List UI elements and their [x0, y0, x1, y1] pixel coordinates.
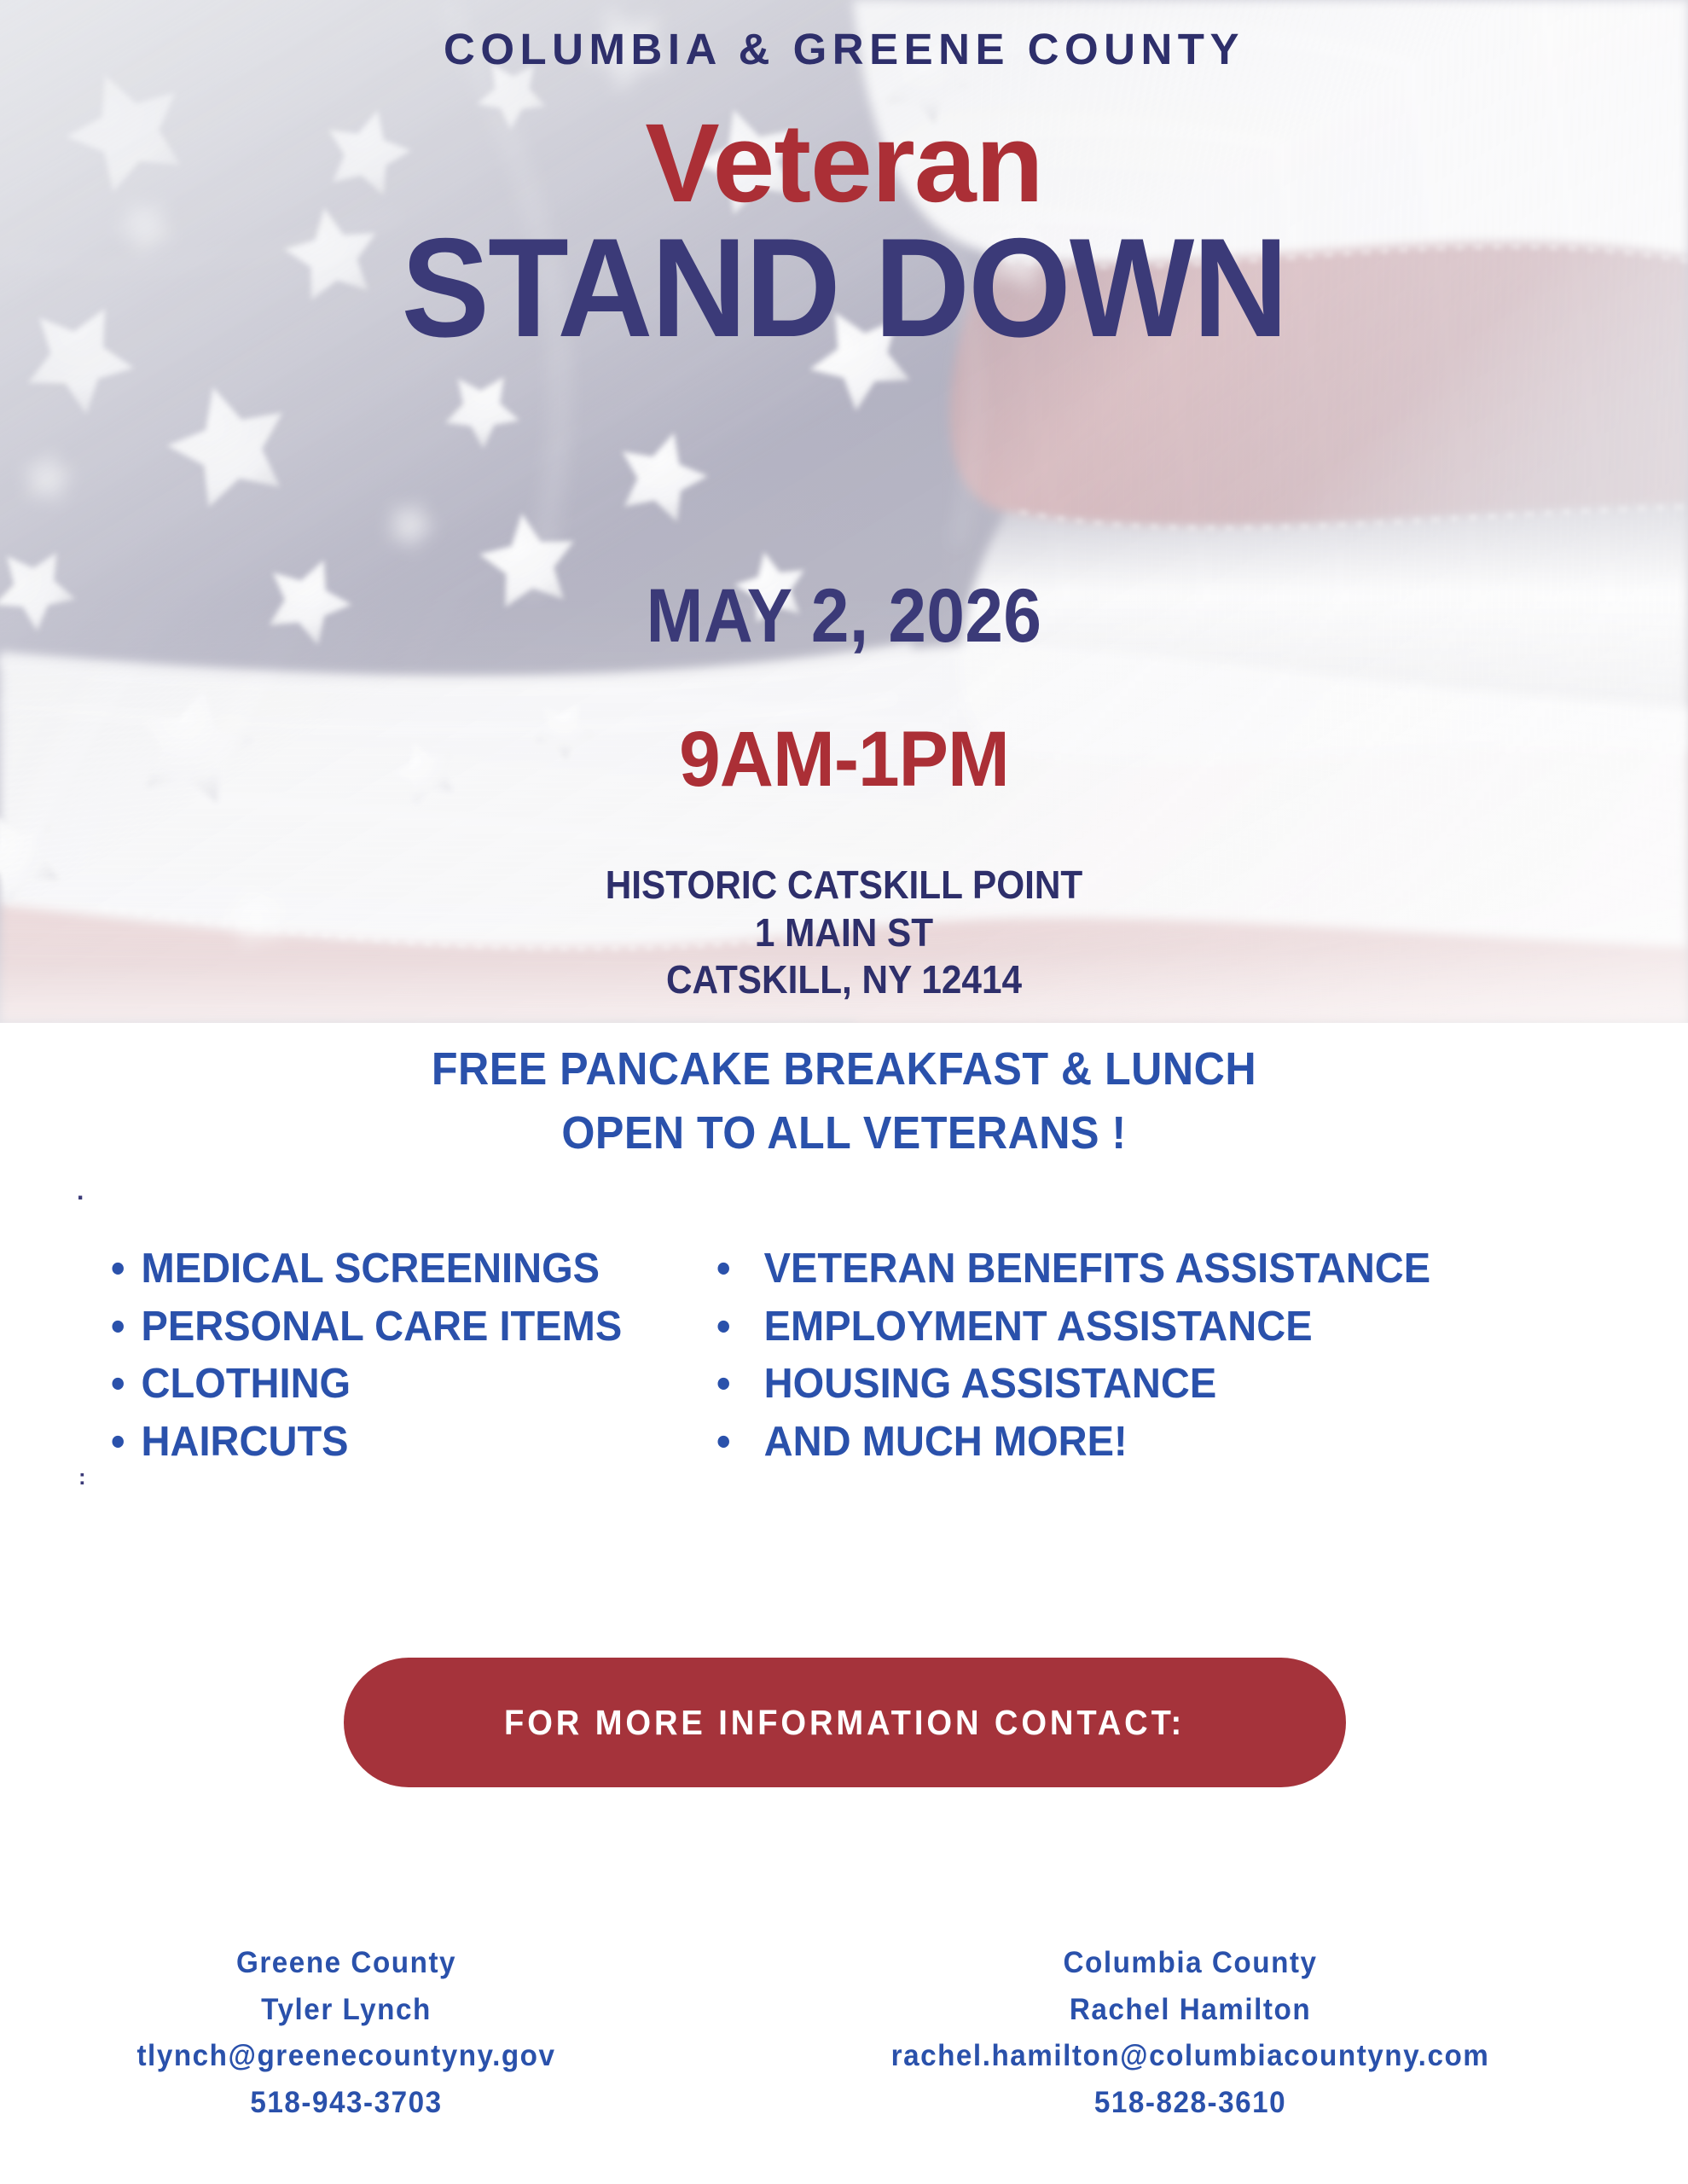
contact-email[interactable]: tlynch@greenecountyny.gov: [17, 2033, 675, 2080]
venue-name: HISTORIC CATSKILL POINT: [67, 862, 1621, 909]
flyer-title-stand-down: STAND DOWN: [50, 218, 1637, 358]
list-item: • HAIRCUTS: [111, 1414, 668, 1472]
list-item: • VETERAN BENEFITS ASSISTANCE: [716, 1240, 1649, 1298]
contact-phone[interactable]: 518-828-3610: [717, 2080, 1663, 2127]
venue-city-state-zip: CATSKILL, NY 12414: [67, 956, 1621, 1004]
list-item-label: HOUSING ASSISTANCE: [764, 1356, 1217, 1414]
flag-hero-banner: COLUMBIA & GREENE COUNTY Veteran STAND D…: [0, 0, 1688, 1023]
list-item-label: AND MUCH MORE!: [764, 1414, 1128, 1472]
list-item: • CLOTHING: [111, 1356, 668, 1414]
list-item: • EMPLOYMENT ASSISTANCE: [716, 1298, 1649, 1356]
contact-person-name: Rachel Hamilton: [717, 1987, 1663, 2034]
promo-line-open-to-all: OPEN TO ALL VETERANS !: [59, 1107, 1628, 1159]
promo-line-meals: FREE PANCAKE BREAKFAST & LUNCH: [59, 1043, 1628, 1095]
contact-banner: FOR MORE INFORMATION CONTACT:: [344, 1658, 1346, 1787]
list-item: • MEDICAL SCREENINGS: [111, 1240, 668, 1298]
list-item: • PERSONAL CARE ITEMS: [111, 1298, 668, 1356]
flyer-title-veteran: Veteran: [0, 101, 1688, 226]
bullet-icon: •: [716, 1240, 764, 1298]
list-item-label: CLOTHING: [142, 1356, 351, 1414]
contact-details: Greene County Tyler Lynch tlynch@greenec…: [0, 1940, 1688, 2126]
flyer-body: FREE PANCAKE BREAKFAST & LUNCH OPEN TO A…: [0, 1023, 1688, 2184]
event-venue-address: HISTORIC CATSKILL POINT 1 MAIN ST CATSKI…: [67, 862, 1621, 1004]
bullet-icon: •: [111, 1298, 142, 1356]
bullet-icon: •: [111, 1356, 142, 1414]
bullet-icon: •: [716, 1356, 764, 1414]
list-item-label: VETERAN BENEFITS ASSISTANCE: [764, 1240, 1430, 1298]
bullet-icon: •: [716, 1414, 764, 1472]
list-item-label: PERSONAL CARE ITEMS: [142, 1298, 623, 1356]
contact-banner-label: FOR MORE INFORMATION CONTACT:: [504, 1703, 1185, 1743]
contact-card-columbia: Columbia County Rachel Hamilton rachel.h…: [693, 1940, 1688, 2126]
event-date: MAY 2, 2026: [84, 572, 1604, 659]
bullet-icon: •: [111, 1240, 142, 1298]
bullet-icon: •: [716, 1298, 764, 1356]
stray-colon-mark: :: [78, 1466, 86, 1488]
list-item: • HOUSING ASSISTANCE: [716, 1356, 1649, 1414]
services-column-left: • MEDICAL SCREENINGS • PERSONAL CARE ITE…: [0, 1240, 691, 1471]
list-item-label: HAIRCUTS: [142, 1414, 349, 1472]
list-item-label: EMPLOYMENT ASSISTANCE: [764, 1298, 1313, 1356]
contact-person-name: Tyler Lynch: [17, 1987, 675, 2034]
services-column-right: • VETERAN BENEFITS ASSISTANCE • EMPLOYME…: [691, 1240, 1688, 1471]
contact-phone[interactable]: 518-943-3703: [17, 2080, 675, 2127]
event-time: 9AM-1PM: [42, 715, 1645, 804]
bullet-icon: •: [111, 1414, 142, 1472]
contact-county: Greene County: [17, 1940, 675, 1987]
contact-county: Columbia County: [717, 1940, 1663, 1987]
contact-card-greene: Greene County Tyler Lynch tlynch@greenec…: [0, 1940, 693, 2126]
list-item: • AND MUCH MORE!: [716, 1414, 1649, 1472]
flyer-kicker-counties: COLUMBIA & GREENE COUNTY: [0, 24, 1688, 74]
venue-street: 1 MAIN ST: [67, 909, 1621, 957]
stray-dot-mark: .: [77, 1177, 84, 1206]
list-item-label: MEDICAL SCREENINGS: [142, 1240, 600, 1298]
services-list: • MEDICAL SCREENINGS • PERSONAL CARE ITE…: [0, 1240, 1688, 1471]
contact-email[interactable]: rachel.hamilton@columbiacountyny.com: [717, 2033, 1663, 2080]
